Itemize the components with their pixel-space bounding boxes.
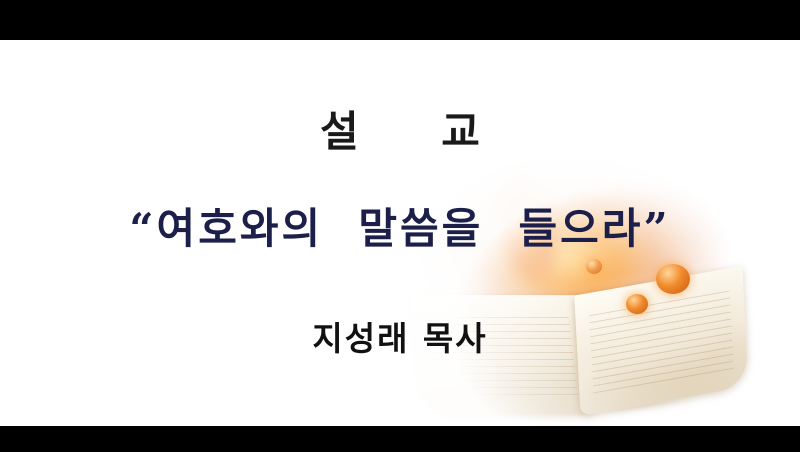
slide-title: 설 교: [0, 98, 800, 159]
slide-subtitle: “여호와의 말씀을 들으라”: [0, 195, 800, 256]
slide-stage: 설 교 “여호와의 말씀을 들으라” 지성래 목사: [0, 0, 800, 452]
slide-text-layer: 설 교 “여호와의 말씀을 들으라” 지성래 목사: [0, 40, 800, 426]
letterbox-top: [0, 0, 800, 40]
letterbox-bottom: [0, 426, 800, 452]
presentation-slide: 설 교 “여호와의 말씀을 들으라” 지성래 목사: [0, 40, 800, 426]
slide-speaker: 지성래 목사: [0, 312, 800, 360]
